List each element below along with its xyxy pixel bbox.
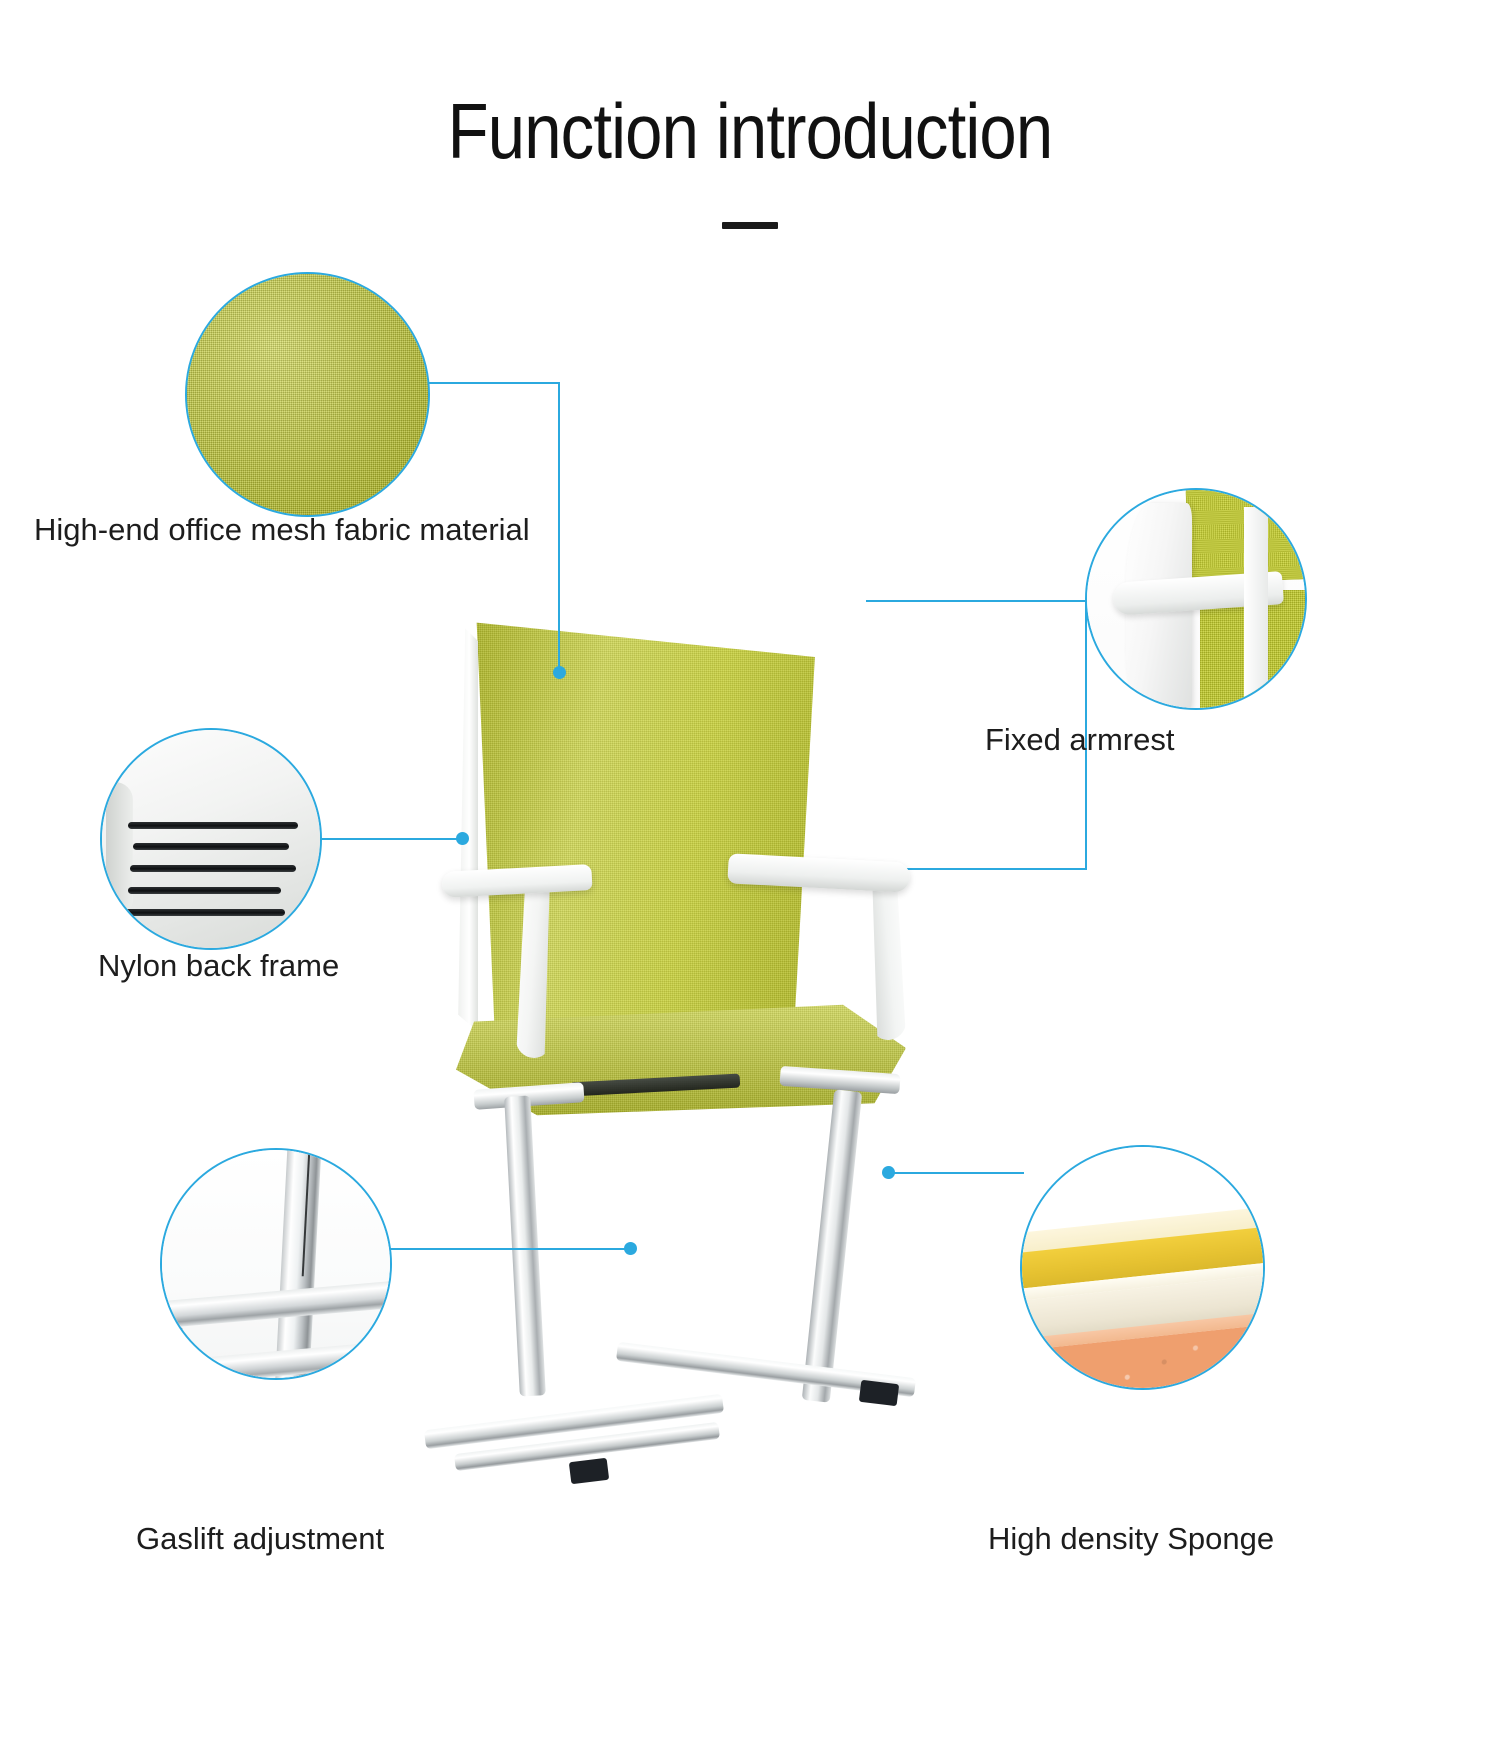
- connector-line-mesh-fabric-v: [558, 382, 560, 672]
- nylon-frame-edge: [106, 782, 132, 917]
- callout-bubble-nylon-back-frame: [100, 728, 322, 950]
- callout-bubble-high-density-sponge: [1020, 1145, 1265, 1390]
- chair-backrest: [466, 614, 822, 1044]
- floor-glide-left: [569, 1458, 609, 1484]
- callout-label-mesh-fabric: High-end office mesh fabric material: [34, 512, 530, 548]
- callout-label-high-density-sponge: High density Sponge: [988, 1521, 1274, 1557]
- connector-dot-nylon-back-frame: [456, 832, 469, 845]
- page-title: Function introduction: [105, 92, 1395, 170]
- product-chair-image: [420, 600, 980, 1480]
- gaslift-vertical-tube: [274, 1148, 322, 1380]
- callout-label-gaslift-adjustment: Gaslift adjustment: [136, 1521, 384, 1557]
- callout-bubble-gaslift-adjustment: [160, 1148, 392, 1380]
- callout-label-nylon-back-frame: Nylon back frame: [98, 948, 339, 984]
- connector-line-fixed-armrest-h-top: [866, 600, 1087, 602]
- gaslift-adjustment-image: [162, 1150, 390, 1378]
- backrest-nylon-edge: [456, 620, 478, 1040]
- connector-dot-mesh-fabric: [553, 666, 566, 679]
- right-armrest-post: [872, 872, 906, 1040]
- nylon-back-frame-image: [102, 730, 320, 948]
- rear-leg: [802, 1089, 862, 1402]
- armrest-rear-post: [1244, 507, 1268, 710]
- connector-line-mesh-fabric-h: [428, 382, 560, 384]
- nylon-vent-slot-4: [128, 887, 281, 894]
- gaslift-lower-rail: [160, 1338, 392, 1380]
- nylon-vent-slot-5: [124, 909, 285, 916]
- connector-dot-gaslift-adjustment: [624, 1242, 637, 1255]
- callout-bubble-mesh-fabric: [185, 272, 430, 517]
- high-density-sponge-image: [1022, 1147, 1263, 1388]
- connector-line-nylon-back-frame: [320, 838, 462, 840]
- callout-label-fixed-armrest: Fixed armrest: [985, 722, 1174, 758]
- fixed-armrest-image: [1087, 490, 1305, 708]
- title-divider: [722, 222, 778, 229]
- connector-line-high-density-sponge: [890, 1172, 1024, 1174]
- nylon-vent-slot-3: [130, 865, 296, 872]
- connector-dot-high-density-sponge: [882, 1166, 895, 1179]
- connector-line-gaslift-adjustment: [390, 1248, 630, 1250]
- nylon-vent-slot-1: [128, 822, 298, 829]
- nylon-vent-slot-2: [133, 843, 290, 850]
- gaslift-horizontal-rail: [160, 1279, 392, 1330]
- floor-glide-right: [859, 1380, 899, 1406]
- mesh-fabric-swatch-image: [187, 274, 428, 515]
- infographic-page: Function introduction High-end office me…: [0, 0, 1500, 1742]
- gaslift-end-cap: [166, 1327, 183, 1344]
- callout-bubble-fixed-armrest: [1085, 488, 1307, 710]
- front-leg: [504, 1096, 546, 1397]
